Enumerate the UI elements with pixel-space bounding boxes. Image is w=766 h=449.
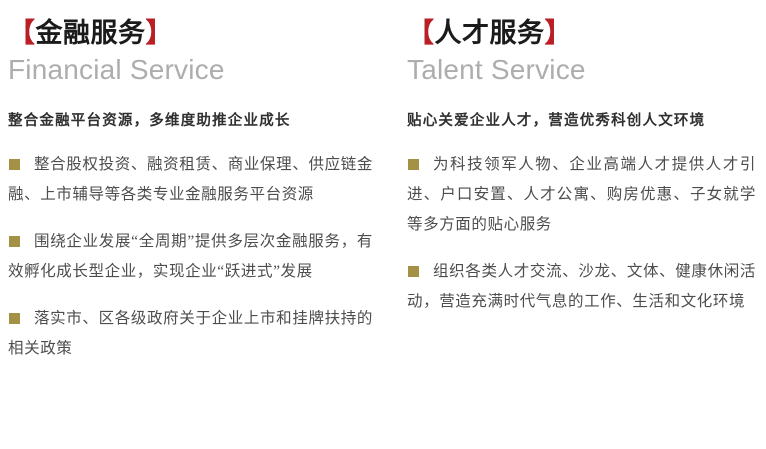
service-sections-page: 【金融服务】 Financial Service 整合金融平台资源，多维度助推企… [0,0,766,449]
section-tagline-talent: 贴心关爱企业人才，营造优秀科创人文环境 [407,110,756,132]
bullet-square-icon [9,159,20,170]
section-heading-cn-financial: 【金融服务】 [8,16,373,50]
bracket-open-icon: 【 [407,18,435,48]
list-item: 围绕企业发展“全周期”提供多层次金融服务，有效孵化成长型企业，实现企业“跃进式”… [8,227,373,287]
bullet-square-icon [408,159,419,170]
bracket-close-icon: 】 [146,18,174,48]
heading-title-cn: 金融服务 [36,18,146,48]
section-heading-en-financial: Financial Service [8,52,373,88]
list-item: 组织各类人才交流、沙龙、文体、健康休闲活动，营造充满时代气息的工作、生活和文化环… [407,257,756,317]
list-item-text: 组织各类人才交流、沙龙、文体、健康休闲活动，营造充满时代气息的工作、生活和文化环… [407,257,756,317]
list-item-text: 围绕企业发展“全周期”提供多层次金融服务，有效孵化成长型企业，实现企业“跃进式”… [8,227,373,287]
list-item: 为科技领军人物、企业高端人才提供人才引进、户口安置、人才公寓、购房优惠、子女就学… [407,150,756,240]
list-item-text: 整合股权投资、融资租赁、商业保理、供应链金融、上市辅导等各类专业金融服务平台资源 [8,150,373,210]
bullet-list-financial: 整合股权投资、融资租赁、商业保理、供应链金融、上市辅导等各类专业金融服务平台资源… [8,150,373,364]
bracket-close-icon: 】 [545,18,573,48]
bullet-square-icon [9,313,20,324]
two-column-layout: 【金融服务】 Financial Service 整合金融平台资源，多维度助推企… [0,0,766,449]
section-heading-cn-talent: 【人才服务】 [407,16,756,50]
list-item: 整合股权投资、融资租赁、商业保理、供应链金融、上市辅导等各类专业金融服务平台资源 [8,150,373,210]
bullet-square-icon [408,266,419,277]
section-tagline-financial: 整合金融平台资源，多维度助推企业成长 [8,110,373,132]
list-item-text: 落实市、区各级政府关于企业上市和挂牌扶持的相关政策 [8,304,373,364]
heading-title-cn: 人才服务 [435,18,545,48]
section-talent-service: 【人才服务】 Talent Service 贴心关爱企业人才，营造优秀科创人文环… [383,0,766,449]
bracket-open-icon: 【 [8,18,36,48]
section-heading-en-talent: Talent Service [407,52,756,88]
list-item: 落实市、区各级政府关于企业上市和挂牌扶持的相关政策 [8,304,373,364]
list-item-text: 为科技领军人物、企业高端人才提供人才引进、户口安置、人才公寓、购房优惠、子女就学… [407,150,756,240]
bullet-square-icon [9,236,20,247]
bullet-list-talent: 为科技领军人物、企业高端人才提供人才引进、户口安置、人才公寓、购房优惠、子女就学… [407,150,756,317]
section-financial-service: 【金融服务】 Financial Service 整合金融平台资源，多维度助推企… [0,0,383,449]
